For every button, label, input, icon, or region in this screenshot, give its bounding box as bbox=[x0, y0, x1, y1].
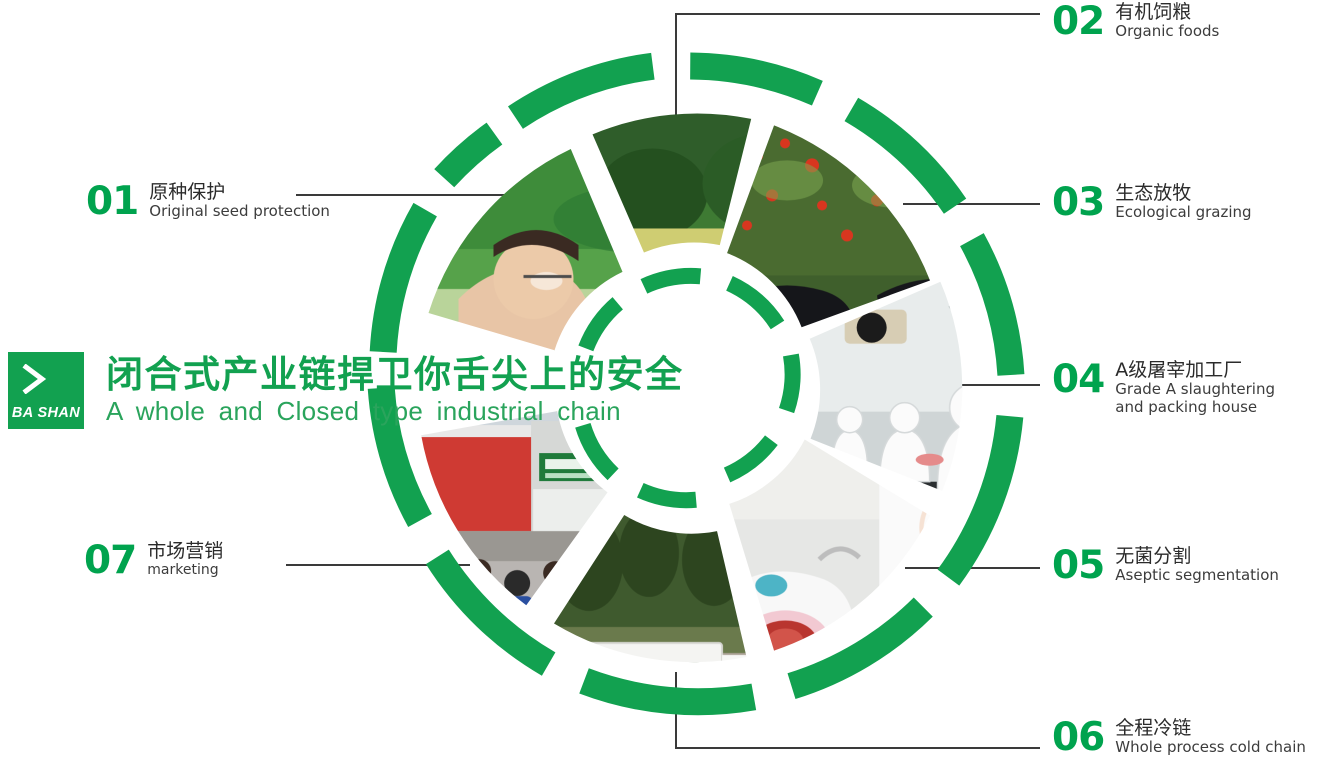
inner-arc-03 bbox=[729, 283, 777, 325]
inner-arc-01 bbox=[586, 303, 618, 348]
callout-04-title-en: Grade A slaughtering bbox=[1115, 381, 1275, 399]
headline-banner: BA SHAN 闭合式产业链捍卫你舌尖上的安全 A whole and Clos… bbox=[0, 352, 684, 429]
callout-02[interactable]: 02 有机饲粮 Organic foods bbox=[1052, 2, 1219, 41]
ba-shan-logo[interactable]: BA SHAN bbox=[8, 352, 84, 429]
chevron-right-icon bbox=[22, 364, 48, 394]
headline-title-cn: 闭合式产业链捍卫你舌尖上的安全 bbox=[106, 355, 684, 395]
callout-01-number: 01 bbox=[86, 182, 138, 221]
infographic-root: 2 bbox=[0, 0, 1323, 766]
callout-03-number: 03 bbox=[1052, 183, 1104, 222]
callout-02-title-cn: 有机饲粮 bbox=[1115, 2, 1219, 23]
outer-arc-10a bbox=[383, 210, 425, 352]
callout-02-number: 02 bbox=[1052, 2, 1104, 41]
callout-03-title-cn: 生态放牧 bbox=[1115, 183, 1251, 204]
callout-05-title-cn: 无菌分割 bbox=[1115, 546, 1279, 567]
outer-arc-11a bbox=[444, 134, 494, 179]
callout-03[interactable]: 03 生态放牧 Ecological grazing bbox=[1052, 183, 1252, 222]
callout-06-title-en: Whole process cold chain bbox=[1115, 739, 1306, 757]
callout-01[interactable]: 01 原种保护 Original seed protection bbox=[86, 182, 330, 221]
callout-06[interactable]: 06 全程冷链 Whole process cold chain bbox=[1052, 718, 1306, 757]
callout-06-number: 06 bbox=[1052, 718, 1104, 757]
callout-05-number: 05 bbox=[1052, 546, 1104, 585]
callout-01-title-cn: 原种保护 bbox=[149, 182, 330, 203]
inner-arc-06 bbox=[640, 490, 696, 500]
outer-arc-01a bbox=[515, 66, 652, 117]
photo-sector-06 bbox=[554, 515, 747, 662]
outer-arc-05a bbox=[948, 416, 1009, 577]
callout-03-title-en: Ecological grazing bbox=[1115, 204, 1251, 222]
inner-arc-04 bbox=[787, 355, 793, 411]
headline-title-en: A whole and Closed type industrial chain bbox=[106, 397, 684, 426]
outer-arc-07a bbox=[584, 681, 754, 702]
callout-02-title-en: Organic foods bbox=[1115, 23, 1219, 41]
inner-arc-05 bbox=[727, 440, 771, 475]
callout-07-title-cn: 市场营销 bbox=[147, 541, 223, 562]
callout-07[interactable]: 07 市场营销 marketing bbox=[84, 541, 223, 580]
callout-06-title-cn: 全程冷链 bbox=[1115, 718, 1306, 739]
inner-arc-02 bbox=[644, 276, 701, 286]
logo-brand-text: BA SHAN bbox=[8, 405, 84, 421]
callout-05-title-en: Aseptic segmentation bbox=[1115, 567, 1279, 585]
callout-04-number: 04 bbox=[1052, 360, 1104, 399]
callout-04-title-cn: A级屠宰加工厂 bbox=[1115, 360, 1275, 381]
inner-arc-07 bbox=[583, 425, 613, 474]
callout-01-title-en: Original seed protection bbox=[149, 203, 330, 221]
callout-04[interactable]: 04 A级屠宰加工厂 Grade A slaughtering and pack… bbox=[1052, 360, 1275, 416]
outer-arc-02a bbox=[690, 66, 817, 93]
callout-07-number: 07 bbox=[84, 541, 136, 580]
outer-arc-04a bbox=[972, 240, 1011, 375]
callout-05[interactable]: 05 无菌分割 Aseptic segmentation bbox=[1052, 546, 1279, 585]
callout-07-title-en: marketing bbox=[147, 562, 223, 578]
callout-04-title-en2: and packing house bbox=[1115, 399, 1275, 417]
photo-sector-02 bbox=[593, 113, 752, 252]
